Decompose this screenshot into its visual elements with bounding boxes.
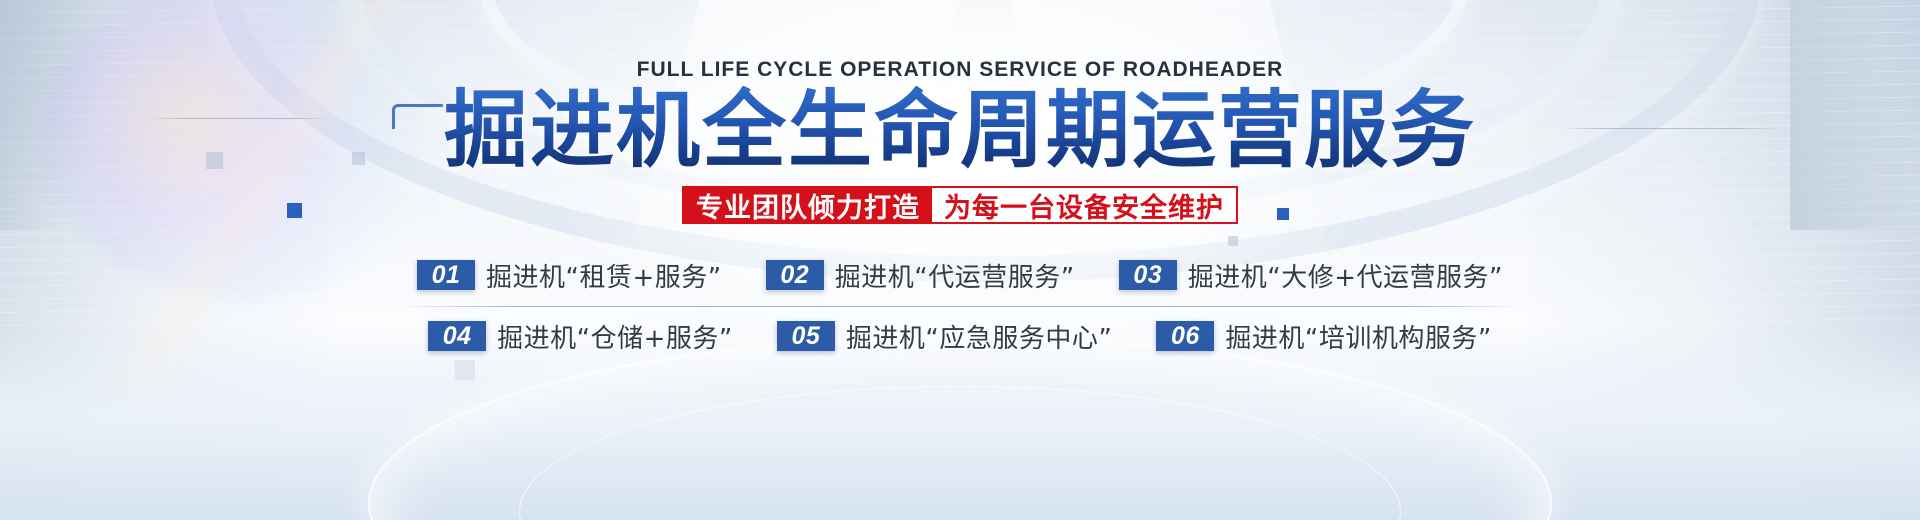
- service-label-03: 掘进机“大修+代运营服务”: [1188, 257, 1503, 294]
- slogan-row: 专业团队倾力打造 为每一台设备安全维护: [0, 186, 1920, 224]
- service-label-01: 掘进机“租赁+服务”: [486, 257, 722, 294]
- service-badge-06: 06: [1156, 321, 1214, 351]
- slogan-primary: 专业团队倾力打造: [684, 188, 932, 222]
- service-label-06: 掘进机“培训机构服务”: [1225, 318, 1491, 355]
- service-badge-02: 02: [766, 260, 824, 290]
- service-item-06[interactable]: 06 掘进机“培训机构服务”: [1156, 318, 1491, 355]
- service-row-2: 04 掘进机“仓储+服务” 05 掘进机“应急服务中心” 06 掘进机“培训机构…: [0, 307, 1920, 365]
- service-item-02[interactable]: 02 掘进机“代运营服务”: [766, 257, 1075, 294]
- service-item-05[interactable]: 05 掘进机“应急服务中心”: [777, 318, 1112, 355]
- service-item-03[interactable]: 03 掘进机“大修+代运营服务”: [1119, 257, 1503, 294]
- promo-banner: FULL LIFE CYCLE OPERATION SERVICE OF ROA…: [0, 0, 1920, 520]
- service-badge-04: 04: [428, 321, 486, 351]
- service-label-05: 掘进机“应急服务中心”: [846, 318, 1112, 355]
- service-item-04[interactable]: 04 掘进机“仓储+服务”: [428, 318, 733, 355]
- service-label-02: 掘进机“代运营服务”: [835, 257, 1075, 294]
- banner-title: 掘进机全生命周期运营服务: [0, 86, 1920, 174]
- service-row-1: 01 掘进机“租赁+服务” 02 掘进机“代运营服务” 03 掘进机“大修+代运…: [0, 246, 1920, 304]
- banner-eyebrow: FULL LIFE CYCLE OPERATION SERVICE OF ROA…: [0, 58, 1920, 82]
- slogan-box: 专业团队倾力打造 为每一台设备安全维护: [682, 186, 1238, 224]
- service-badge-03: 03: [1119, 260, 1177, 290]
- service-label-04: 掘进机“仓储+服务”: [497, 318, 733, 355]
- service-badge-05: 05: [777, 321, 835, 351]
- banner-content: FULL LIFE CYCLE OPERATION SERVICE OF ROA…: [0, 0, 1920, 520]
- service-badge-01: 01: [417, 260, 475, 290]
- slogan-secondary: 为每一台设备安全维护: [932, 188, 1236, 222]
- service-item-01[interactable]: 01 掘进机“租赁+服务”: [417, 257, 722, 294]
- service-list: 01 掘进机“租赁+服务” 02 掘进机“代运营服务” 03 掘进机“大修+代运…: [0, 246, 1920, 365]
